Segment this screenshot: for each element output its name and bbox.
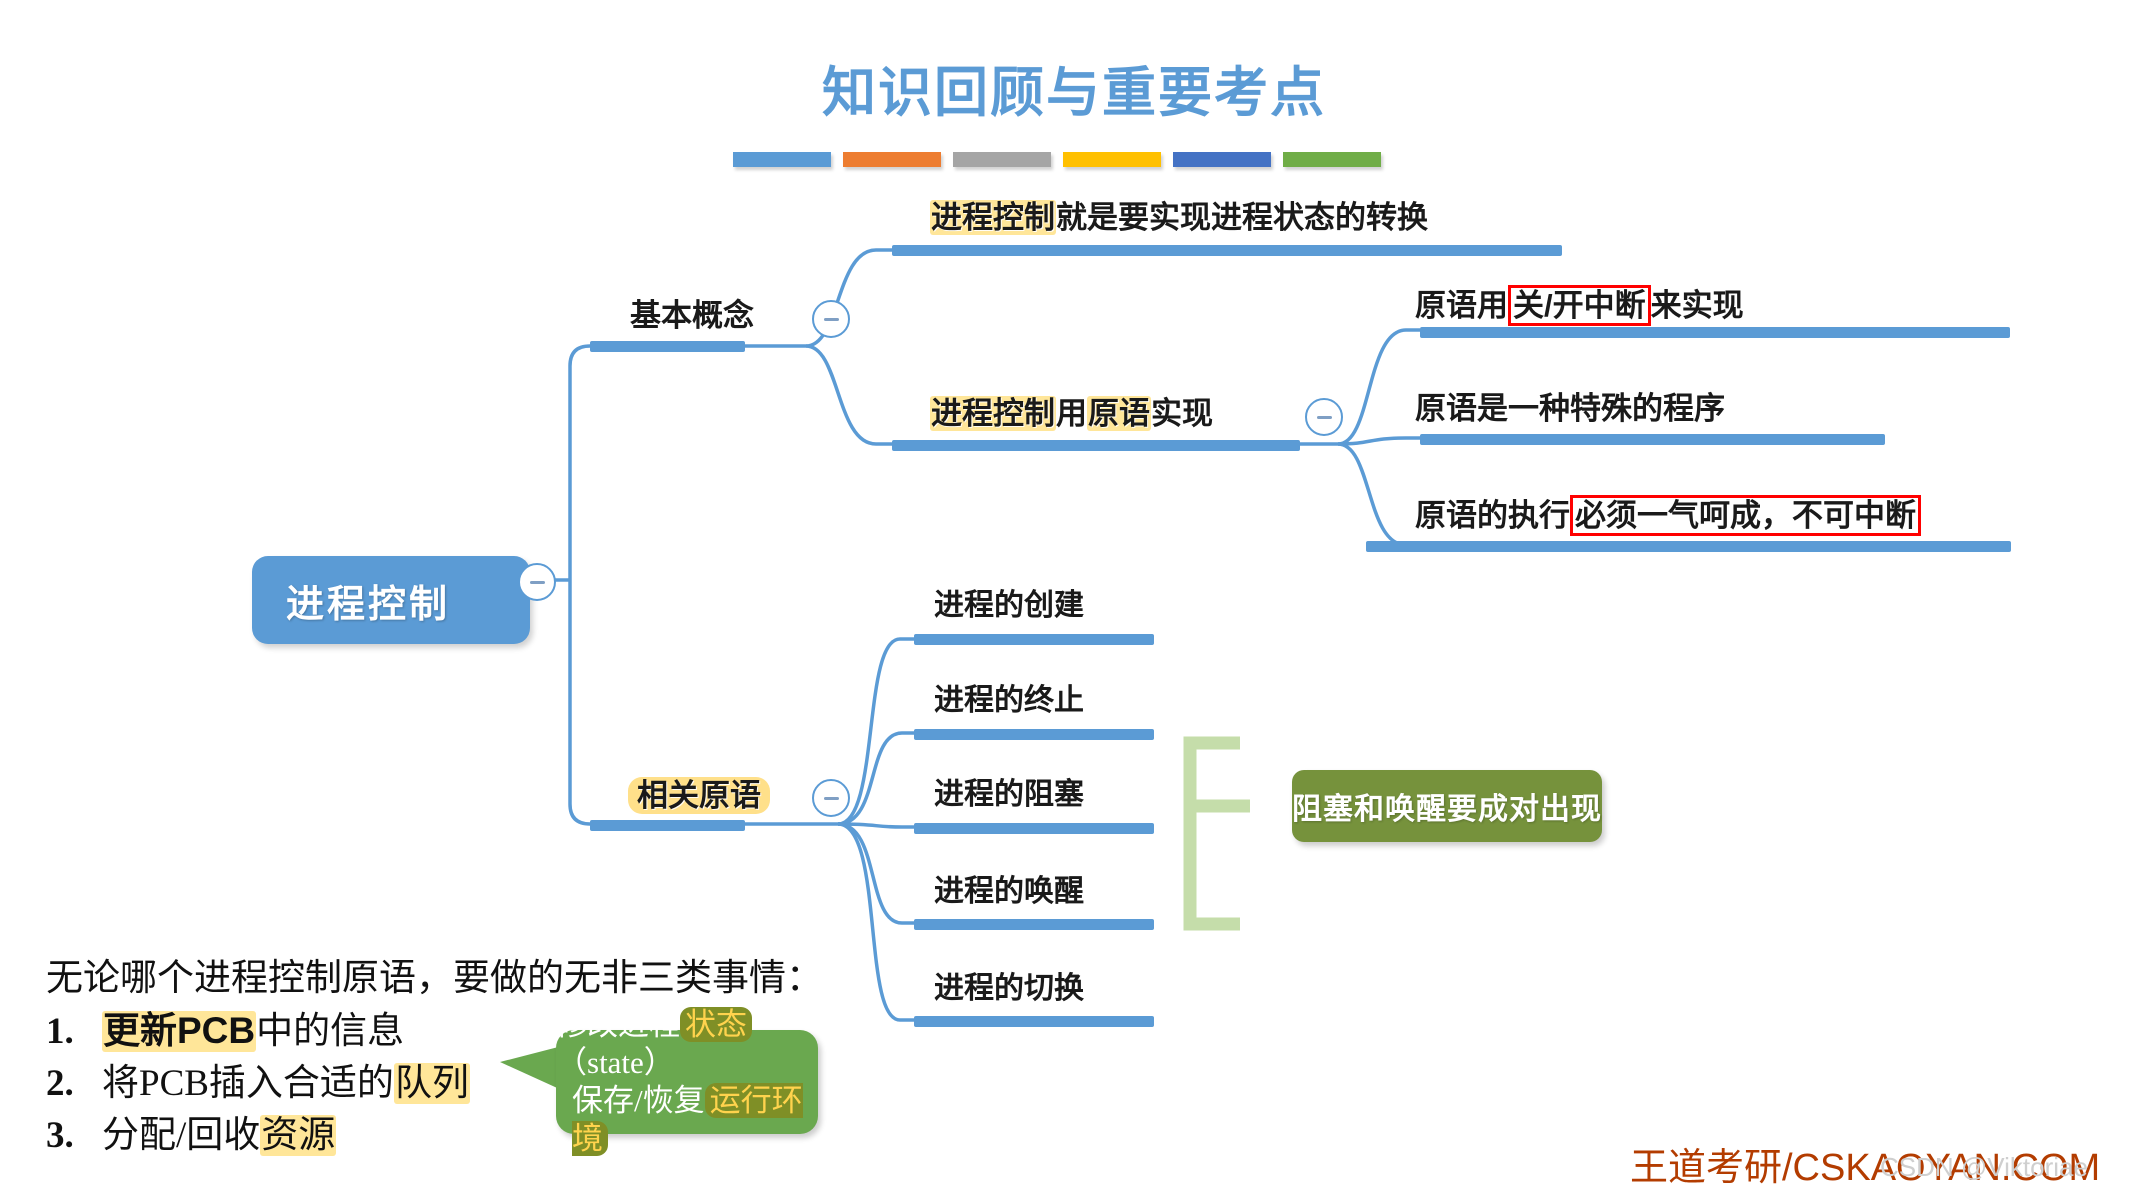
plain-segment: 来实现	[1651, 288, 1744, 323]
node-underline-process-block	[914, 823, 1154, 834]
highlight-pill-segment: 相关原语	[628, 777, 770, 814]
highlight-segment: 进程控制	[930, 396, 1056, 431]
csdn-watermark: CSDN @Viktoriae	[1880, 1152, 2088, 1183]
highlight-segment: 进程控制	[930, 200, 1056, 235]
node-label-process-termination: 进程的终止	[934, 675, 1084, 719]
green-note-label: 阻塞和唤醒要成对出现	[1292, 784, 1602, 828]
plain-segment: 就是要实现进程状态的转换	[1056, 200, 1428, 235]
highlight-segment: 状态	[680, 1007, 752, 1042]
plain-segment: 修改进程	[556, 1007, 680, 1042]
node-underline-process-switch	[914, 1016, 1154, 1027]
node-label-primitive-interrupt-switch: 原语用关/开中断来实现	[1415, 280, 1744, 325]
mindmap-root-node[interactable]: 进程控制	[252, 556, 530, 644]
callout-box: 修改进程状态（state） 保存/恢复运行环境	[556, 1030, 818, 1134]
plain-segment: 原语用	[1415, 288, 1508, 323]
collapse-minus-icon-primitives[interactable]	[1305, 398, 1343, 436]
list-number: 1.	[46, 1008, 102, 1056]
color-bar-darkblue	[1173, 152, 1271, 167]
node-label-process-switch: 进程的切换	[934, 963, 1084, 1007]
node-label-primitive-atomic-execution: 原语的执行必须一气呵成，不可中断	[1415, 490, 1921, 535]
callout-line-1: 修改进程状态（state）	[556, 1006, 818, 1082]
green-note-box: 阻塞和唤醒要成对出现	[1292, 770, 1602, 842]
node-label-primitive-is-special-program: 原语是一种特殊的程序	[1415, 383, 1725, 428]
node-underline-related-primitives	[590, 820, 745, 831]
plain-segment: 将PCB插入合适的	[102, 1063, 394, 1104]
plain-segment: 保存/恢复	[572, 1083, 705, 1118]
color-bar-orange	[843, 152, 941, 167]
node-underline-state-transition	[892, 245, 1562, 256]
highlight-segment: 资源	[260, 1115, 336, 1156]
plain-segment: 原语是一种特殊的程序	[1415, 391, 1725, 426]
bottom-lead-text: 无论哪个进程控制原语，要做的无非三类事情：	[46, 955, 823, 1003]
plain-segment: 中的信息	[256, 1011, 404, 1052]
node-underline-interrupt-switch	[1420, 327, 2010, 338]
color-bar-blue	[733, 152, 831, 167]
node-underline-process-termination	[914, 729, 1154, 740]
collapse-minus-icon-related-primitives[interactable]	[812, 779, 850, 817]
plain-segment: 分配/回收	[102, 1115, 260, 1156]
highlight-segment: 更新PCB	[102, 1011, 256, 1052]
collapse-minus-icon-basic-concept[interactable]	[812, 300, 850, 338]
node-label-process-creation: 进程的创建	[934, 580, 1084, 624]
root-collapse-minus-icon[interactable]	[518, 563, 556, 601]
node-underline-process-creation	[914, 634, 1154, 645]
color-bar-yellow	[1063, 152, 1161, 167]
red-box-segment: 必须一气呵成，不可中断	[1570, 495, 1921, 536]
highlight-text: 更新PCB	[103, 1010, 255, 1051]
highlight-segment: 原语	[1087, 396, 1151, 431]
node-underline-uses-primitives	[892, 440, 1300, 451]
color-bar-gray	[953, 152, 1051, 167]
node-underline-atomic-execution	[1366, 541, 2011, 552]
color-bar-green	[1283, 152, 1381, 167]
node-label-process-control-uses-primitives: 进程控制用原语实现	[930, 388, 1213, 433]
node-label-process-control-is-state-transition: 进程控制就是要实现进程状态的转换	[930, 192, 1428, 237]
node-label-process-block: 进程的阻塞	[934, 769, 1084, 813]
list-number: 3.	[46, 1112, 102, 1160]
color-bar-strip	[733, 152, 1381, 167]
node-underline-special-program	[1420, 434, 1885, 445]
mindmap-root-label: 进程控制	[286, 573, 450, 628]
plain-segment: 原语的执行	[1415, 498, 1570, 533]
plain-segment: （state）	[556, 1045, 675, 1080]
red-box-segment: 关/开中断	[1508, 285, 1651, 326]
node-label-process-wakeup: 进程的唤醒	[934, 866, 1084, 910]
callout-line-2: 保存/恢复运行环境	[556, 1082, 818, 1158]
highlight-segment: 队列	[394, 1063, 470, 1104]
node-underline-basic-concept	[590, 341, 745, 352]
plain-segment: 用	[1056, 396, 1087, 431]
list-number: 2.	[46, 1060, 102, 1108]
node-underline-process-wakeup	[914, 919, 1154, 930]
node-label-basic-concept: 基本概念	[630, 290, 754, 335]
page-title: 知识回顾与重要考点	[0, 48, 2148, 127]
plain-segment: 实现	[1151, 396, 1213, 431]
node-label-related-primitives: 相关原语	[628, 770, 770, 815]
